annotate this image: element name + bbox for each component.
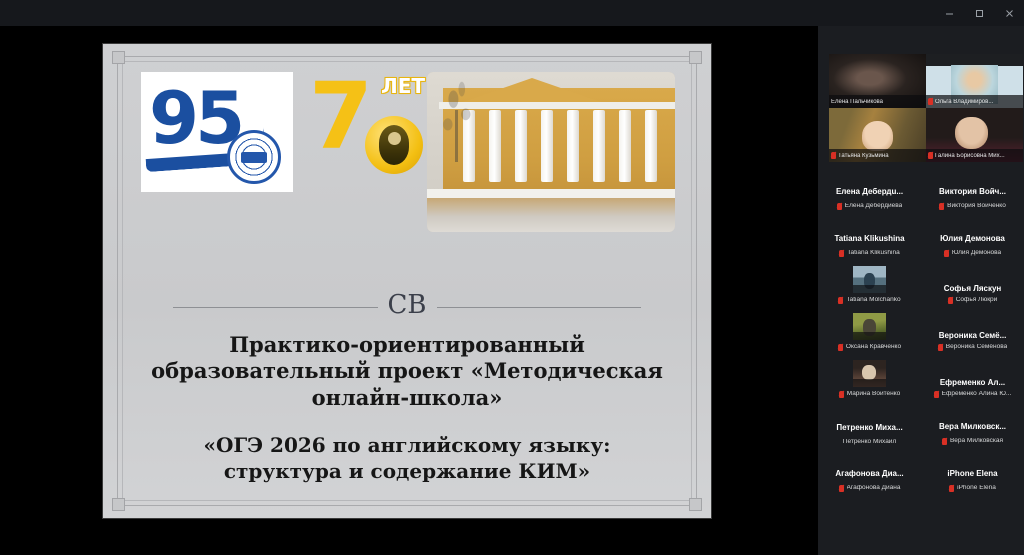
participant-display-name: Вероника Семё... (939, 332, 1007, 340)
participant-row: Агафонова Диа...Агафонова ДианаiPhone El… (818, 448, 1024, 495)
participant-status-line: Агафонова Диана (839, 485, 901, 492)
video-tile-name: Елена Пальчикова (831, 99, 883, 105)
participant-name-label: Tatiana Molchanko (846, 297, 900, 304)
participant-display-name: Юлия Демонова (940, 235, 1005, 243)
slide-subtitle: «ОГЭ 2026 по английскому языку: структур… (145, 432, 669, 484)
participant-status-line: Вероника Семёнова (938, 344, 1007, 351)
participant-status-line: Юлия Демонова (944, 250, 1001, 257)
slide-corner-ornament (689, 51, 702, 64)
slide-divider: CB (173, 294, 641, 320)
participant-row: Tatiana KlikushinaTatiana KlikushinaЮлия… (818, 213, 1024, 260)
participant-item[interactable]: Оксана Кравченко (818, 307, 921, 354)
participant-name-label: Оксана Кравченко (846, 344, 901, 351)
participants-panel[interactable]: Елена ПальчиковаОльга Владимиров...Татья… (818, 26, 1024, 555)
participant-item[interactable]: Елена Дебердu...Елена Дебердиева (818, 166, 921, 213)
microphone-muted-icon (928, 152, 933, 159)
logo-70-number: 7 (309, 76, 367, 159)
zoom-meeting-window: 95 7 ЛЕТ (0, 0, 1024, 555)
participant-item[interactable]: Вера Милковск...Вера Милковская (921, 401, 1024, 448)
microphone-muted-icon (942, 438, 947, 445)
participant-display-name: Агафонова Диа... (835, 470, 903, 478)
participant-name-label: Юлия Демонова (952, 250, 1001, 257)
participant-list[interactable]: Елена Дебердu...Елена ДебердиеваВиктория… (818, 166, 1024, 531)
participant-display-name: Виктория Войч... (939, 188, 1006, 196)
participant-item[interactable]: Марина Войтенко (818, 354, 921, 401)
participant-name-label: Елена Дебердиева (845, 203, 902, 210)
minimize-icon[interactable] (934, 2, 964, 24)
slide-corner-ornament (112, 498, 125, 511)
video-tile-name: Ольга Владимиров... (935, 99, 993, 105)
participant-status-line: Виктория Войченко (939, 203, 1006, 210)
participant-item[interactable]: Ефременко Ал...Ефременко Алина Ю... (921, 354, 1024, 401)
window-titlebar (0, 0, 1024, 26)
participant-status-line: Вера Милковская (942, 438, 1003, 445)
participant-row: Tatiana MolchankoСофья ЛяскунСофья Люкри (818, 260, 1024, 307)
microphone-muted-icon (838, 297, 843, 304)
participant-name-label: Марина Войтенко (847, 391, 901, 398)
video-tile-name: Татьяна Кузьмина (838, 153, 889, 159)
participant-status-line: Софья Люкри (948, 297, 998, 304)
participant-status-line: Ефременко Алина Ю... (934, 391, 1012, 398)
slide-corner-ornament (689, 498, 702, 511)
participant-item[interactable]: Агафонова Диа...Агафонова Диана (818, 448, 921, 495)
participant-status-line: Tatiana Klikushina (839, 250, 899, 257)
participant-status-line: Елена Дебердиева (837, 203, 902, 210)
participant-row: Марина ВойтенкоЕфременко Ал...Ефременко … (818, 354, 1024, 401)
participant-item[interactable]: Вероника Семё...Вероника Семёнова (921, 307, 1024, 354)
microphone-muted-icon (939, 203, 944, 210)
logo-95-anniversary: 95 (141, 72, 293, 192)
participant-item[interactable]: iPhone ElenaiPhone Elena (921, 448, 1024, 495)
participant-status-line: Tatiana Molchanko (838, 297, 900, 304)
microphone-muted-icon (839, 391, 844, 398)
logo-95-emblem-icon (227, 130, 281, 184)
participant-name-label: Виктория Войченко (947, 203, 1006, 210)
video-tile-namebar: Ольга Владимиров... (926, 95, 1023, 108)
video-tile[interactable]: Елена Пальчикова (829, 54, 926, 108)
video-tile[interactable]: Татьяна Кузьмина (829, 108, 926, 162)
participant-display-name: iPhone Elena (947, 470, 997, 478)
microphone-muted-icon (944, 250, 949, 257)
participant-video-thumbnail[interactable] (853, 313, 886, 340)
participant-row: Петренко Миха...Петренко МихаилВера Милк… (818, 401, 1024, 448)
participant-display-name: Ефременко Ал... (940, 379, 1005, 387)
video-tile-namebar: Галина Борисовна Мих... (926, 149, 1023, 162)
participant-display-name: Елена Дебердu... (836, 188, 903, 196)
video-tile[interactable]: Галина Борисовна Мих... (926, 108, 1023, 162)
participant-status-line: iPhone Elena (949, 485, 996, 492)
slide-header-graphics: 95 7 ЛЕТ (141, 72, 675, 232)
logo-70-portrait-medallion-icon (365, 116, 423, 174)
microphone-muted-icon (831, 152, 836, 159)
microphone-muted-icon (934, 391, 939, 398)
participant-row: Елена Дебердu...Елена ДебердиеваВиктория… (818, 166, 1024, 213)
video-tile-name: Галина Борисовна Мих... (935, 153, 1005, 159)
participant-display-name: Tatiana Klikushina (834, 235, 904, 243)
presentation-slide: 95 7 ЛЕТ (103, 44, 711, 518)
slide-corner-ornament (112, 51, 125, 64)
video-tile-namebar: Елена Пальчикова (829, 95, 926, 108)
participant-status-line: Оксана Кравченко (838, 344, 901, 351)
participant-row: Оксана КравченкоВероника Семё...Вероника… (818, 307, 1024, 354)
slide-title: Практико-ориентированный образовательный… (145, 332, 669, 411)
logo-70-anniversary: 7 ЛЕТ (309, 72, 427, 176)
microphone-muted-icon (928, 98, 933, 105)
participant-status-line: Марина Войтенко (839, 391, 901, 398)
participant-item[interactable]: Юлия ДемоноваЮлия Демонова (921, 213, 1024, 260)
participant-video-thumbnail[interactable] (853, 266, 886, 293)
participant-name-label: Вероника Семёнова (946, 344, 1007, 351)
participant-display-name: Софья Ляскун (944, 285, 1002, 293)
participant-name-label: iPhone Elena (957, 485, 996, 492)
participant-item[interactable]: Петренко Миха...Петренко Михаил (818, 401, 921, 448)
participant-item[interactable]: Софья ЛяскунСофья Люкри (921, 260, 1024, 307)
microphone-muted-icon (948, 297, 953, 304)
shared-screen-stage: 95 7 ЛЕТ (0, 26, 818, 555)
restore-icon[interactable] (964, 2, 994, 24)
microphone-muted-icon (938, 344, 943, 351)
building-photo (427, 72, 675, 232)
flourish-ornament-icon: CB (378, 292, 437, 318)
video-tile-namebar: Татьяна Кузьмина (829, 149, 926, 162)
microphone-muted-icon (837, 203, 842, 210)
participant-name-label: Tatiana Klikushina (847, 250, 899, 257)
participant-name-label: Ефременко Алина Ю... (942, 391, 1012, 398)
video-tile[interactable]: Ольга Владимиров... (926, 54, 1023, 108)
tree-silhouette (431, 74, 487, 158)
video-tile-grid: Елена ПальчиковаОльга Владимиров...Татья… (829, 54, 1023, 162)
close-icon[interactable] (994, 2, 1024, 24)
participant-video-thumbnail[interactable] (853, 360, 886, 387)
participant-name-label: Агафонова Диана (847, 485, 901, 492)
microphone-muted-icon (839, 250, 844, 257)
participant-item[interactable]: Tatiana Molchanko (818, 260, 921, 307)
microphone-muted-icon (839, 485, 844, 492)
participant-status-line: Петренко Михаил (843, 439, 896, 446)
participant-item[interactable]: Tatiana KlikushinaTatiana Klikushina (818, 213, 921, 260)
participant-display-name: Петренко Миха... (836, 424, 902, 432)
participant-name-label: Софья Люкри (956, 297, 998, 304)
logo-70-years-label: ЛЕТ (381, 74, 425, 98)
participant-item[interactable]: Виктория Войч...Виктория Войченко (921, 166, 1024, 213)
participant-display-name: Вера Милковск... (939, 423, 1006, 431)
participant-name-label: Вера Милковская (950, 438, 1003, 445)
microphone-muted-icon (838, 344, 843, 351)
microphone-muted-icon (949, 485, 954, 492)
participant-name-label: Петренко Михаил (843, 439, 896, 446)
